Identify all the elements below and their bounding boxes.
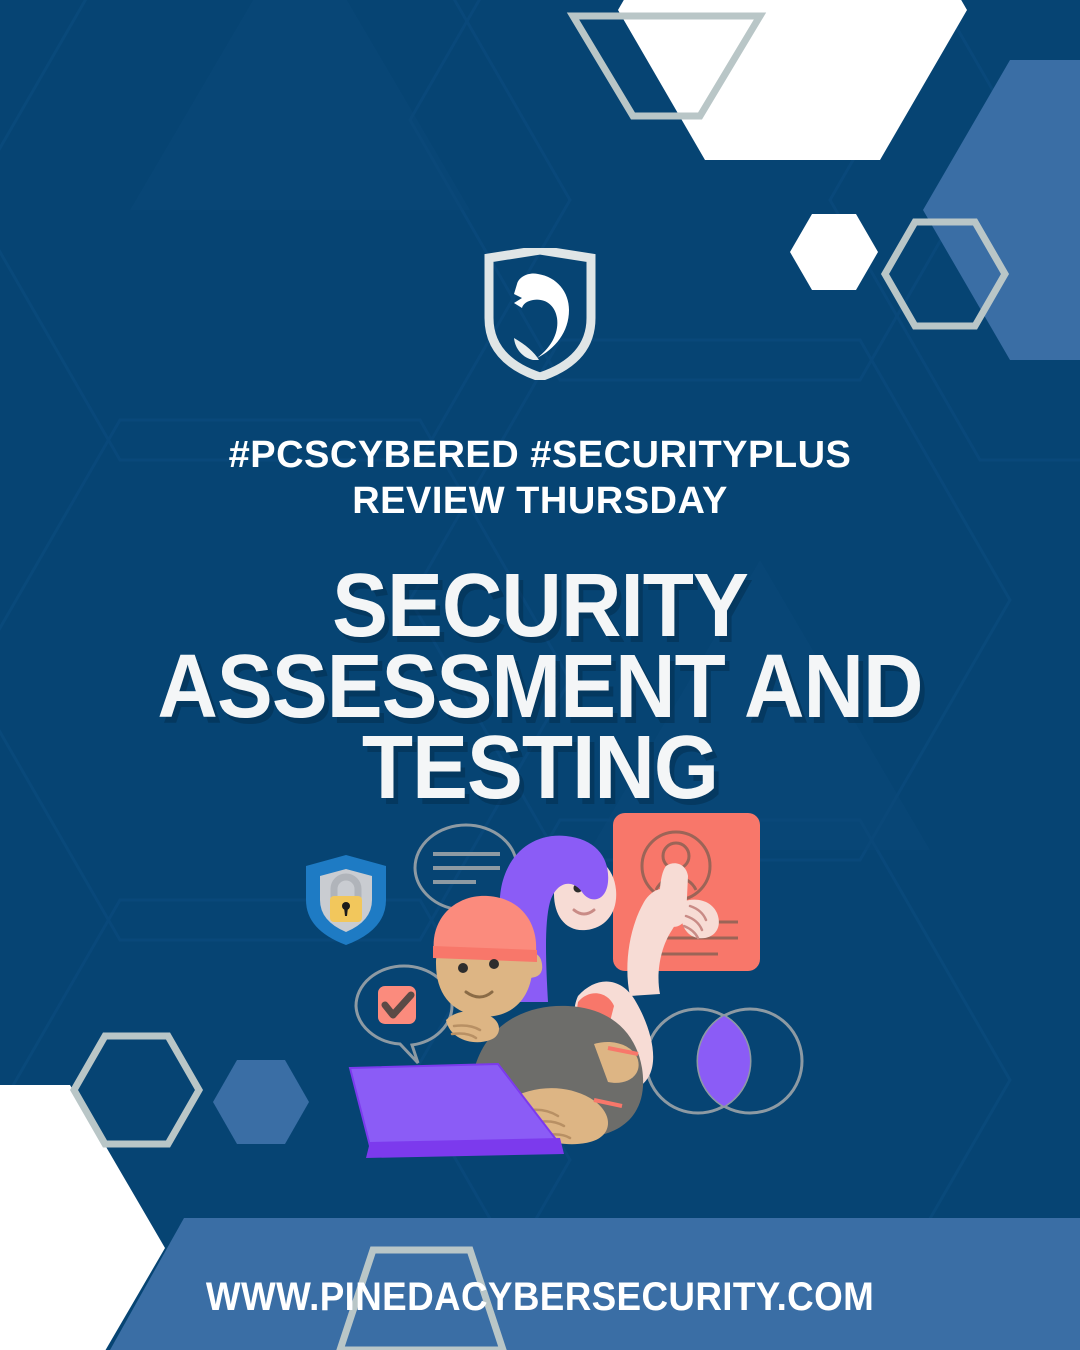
hexagon-outline-bottom-left: [74, 1036, 199, 1144]
poster-canvas: #PCSCYBERED #SECURITYPLUS REVIEW THURSDA…: [0, 0, 1080, 1350]
hexagon-white-large-top: [618, 0, 967, 160]
page-title: SECURITY ASSESSMENT AND TESTING: [38, 566, 1042, 809]
kicker-line-2: REVIEW THURSDAY: [0, 478, 1080, 524]
security-assessment-illustration: [278, 806, 808, 1172]
kicker-line-1: #PCSCYBERED #SECURITYPLUS: [229, 434, 852, 476]
headline-line-2: ASSESSMENT AND: [38, 647, 1042, 728]
kicker-text: #PCSCYBERED #SECURITYPLUS REVIEW THURSDA…: [0, 432, 1080, 525]
footer-url[interactable]: WWW.PINEDACYBERSECURITY.COM: [43, 1275, 1037, 1320]
speech-bubble-check-icon: [356, 966, 452, 1063]
shield-icon: [489, 250, 591, 377]
brand-logo: [0, 248, 1080, 380]
headline-line-3: TESTING: [38, 728, 1042, 809]
headline-line-1: SECURITY: [38, 566, 1042, 647]
venn-diagram-icon: [646, 1009, 802, 1113]
shield-lock-icon: [306, 855, 386, 945]
